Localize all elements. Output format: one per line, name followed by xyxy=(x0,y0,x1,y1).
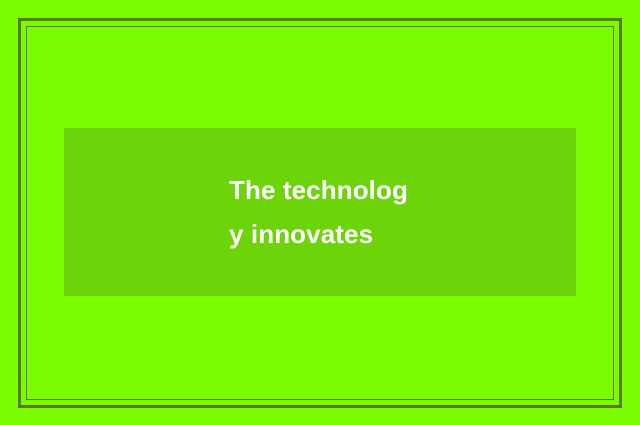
headline-text: The technology innovates xyxy=(229,168,411,256)
banner-canvas: The technology innovates xyxy=(0,0,640,425)
headline-panel: The technology innovates xyxy=(64,128,576,296)
